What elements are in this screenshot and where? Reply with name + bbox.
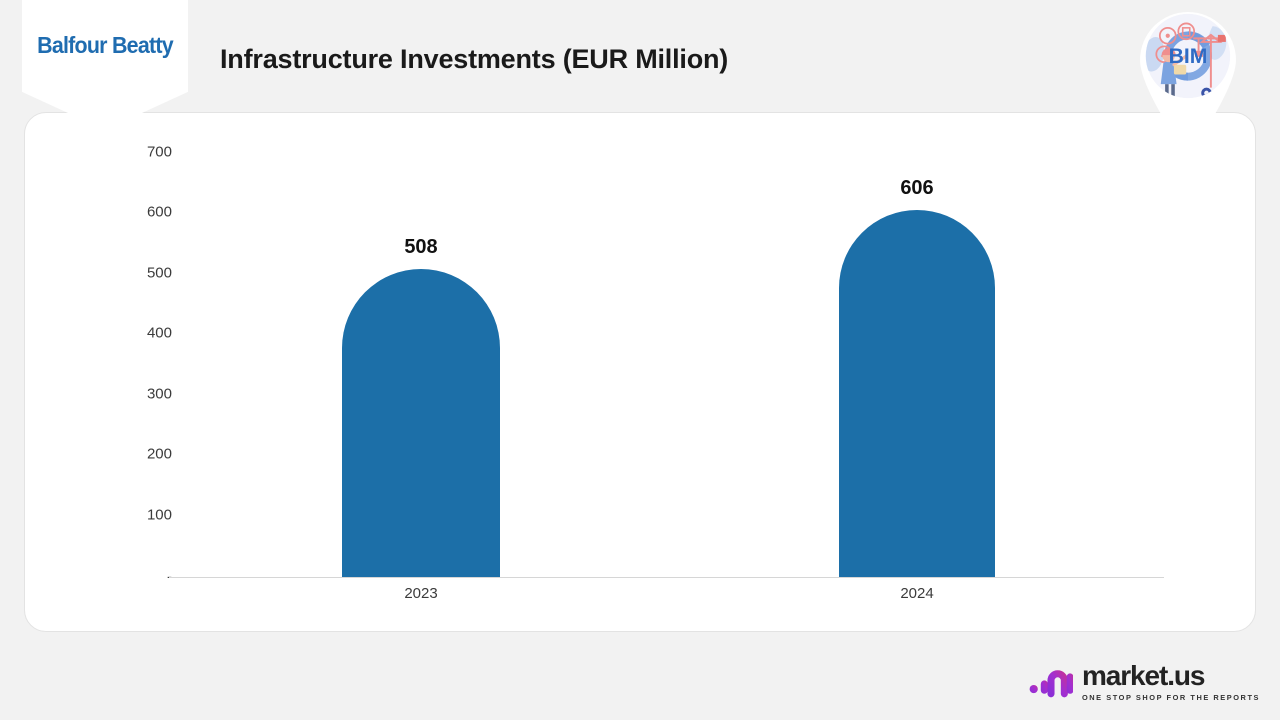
y-axis-tick-200: 200 xyxy=(147,446,172,463)
bim-label: BIM xyxy=(1169,45,1208,68)
bar-2023[interactable] xyxy=(342,269,500,577)
bim-illustration-icon: BIM xyxy=(1144,12,1232,100)
bar-value-2024: 606 xyxy=(839,177,995,200)
bar-group-2024: 606 xyxy=(839,117,995,577)
x-axis-label-2024: 2024 xyxy=(839,585,995,602)
x-axis-line xyxy=(169,577,1164,578)
marketus-wordmark: market.us xyxy=(1082,662,1260,690)
plot-area: 700 600 500 400 300 200 100 - 508 606 20… xyxy=(25,113,1257,633)
marketus-logo[interactable]: market.us ONE STOP SHOP FOR THE REPORTS xyxy=(1029,662,1260,702)
y-axis-tick-300: 300 xyxy=(147,386,172,403)
page-title: Infrastructure Investments (EUR Million) xyxy=(220,44,728,75)
bar-value-2023: 508 xyxy=(342,236,500,259)
bar-2024[interactable] xyxy=(839,210,995,577)
y-axis-tick-400: 400 xyxy=(147,325,172,342)
marketus-logo-icon xyxy=(1029,665,1073,699)
x-axis-label-2023: 2023 xyxy=(342,585,500,602)
y-axis-tick-500: 500 xyxy=(147,265,172,282)
brand-badge: Balfour Beatty xyxy=(22,0,188,130)
bar-group-2023: 508 xyxy=(342,169,500,577)
brand-name-label: Balfour Beatty xyxy=(28,32,182,59)
y-axis-tick-700: 700 xyxy=(147,144,172,161)
y-axis-tick-100: 100 xyxy=(147,507,172,524)
marketus-tagline: ONE STOP SHOP FOR THE REPORTS xyxy=(1082,693,1260,702)
y-axis-tick-600: 600 xyxy=(147,204,172,221)
bim-map-pin-icon: BIM xyxy=(1132,0,1244,156)
chart-card: 700 600 500 400 300 200 100 - 508 606 20… xyxy=(24,112,1256,632)
pennant-shape xyxy=(22,0,188,130)
